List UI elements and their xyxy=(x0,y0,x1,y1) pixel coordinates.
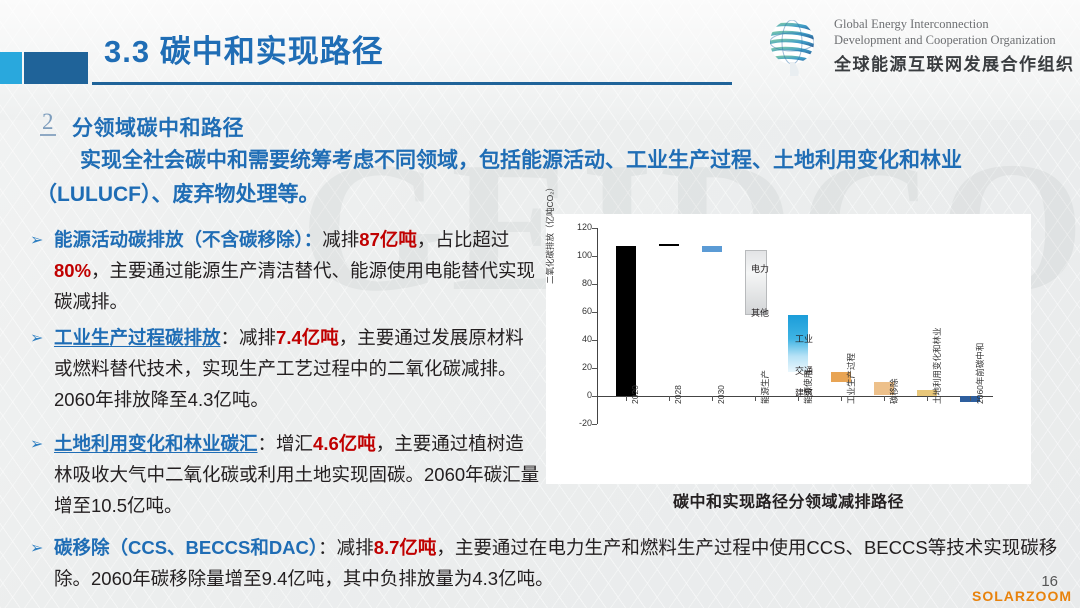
bullet-carbon-removal: ➢ 碳移除（CCS、BECCS和DAC）：减排8.7亿吨，主要通过在电力生产和燃… xyxy=(30,532,1060,594)
chart-y-tick-label: 80 xyxy=(562,278,592,288)
chart-y-tick-label: 120 xyxy=(562,222,592,232)
header-accent-square-dark xyxy=(24,52,88,84)
chart-segment-label: 其他 xyxy=(751,306,769,319)
bullet-lead: 土地利用变化和林业碳汇 xyxy=(54,433,258,454)
bullet-text-pre: 减排 xyxy=(239,327,276,348)
chart-x-tick-label: 2020 xyxy=(630,385,640,404)
bullet-arrow-icon: ➢ xyxy=(30,533,43,564)
chart-y-tick-label: 0 xyxy=(562,390,592,400)
bullet-highlight-1: 7.4亿吨 xyxy=(276,327,339,348)
chart-segment-label: 工业 xyxy=(795,332,813,345)
chart-x-tick-mark xyxy=(798,396,799,401)
bullet-colon: ： xyxy=(304,229,323,250)
source-watermark: SOLARZOOM xyxy=(972,588,1072,604)
globe-grid-icon xyxy=(764,16,824,76)
chart-caption: 碳中和实现路径分领域减排路径 xyxy=(546,488,1031,512)
bullet-lead: 工业生产过程碳排放 xyxy=(54,327,221,348)
logo-chinese-name: 全球能源互联网发展合作组织 xyxy=(834,50,1075,75)
bullet-lead: 碳移除（CCS、BECCS和DAC） xyxy=(54,537,318,558)
chart-y-tick-mark xyxy=(592,424,597,425)
bullet-arrow-icon: ➢ xyxy=(30,429,43,460)
chart-y-tick-label: -20 xyxy=(562,418,592,428)
slide-canvas: GEIDCO 3.3 碳中和实现路径 xyxy=(0,0,1080,608)
chart-y-tick-mark xyxy=(592,312,597,313)
chart-bar xyxy=(702,246,722,252)
bullet-colon: ： xyxy=(258,433,277,454)
chart-x-tick-mark xyxy=(884,396,885,401)
chart-y-tick-label: 40 xyxy=(562,334,592,344)
chart-x-tick-mark xyxy=(927,396,928,401)
bullet-colon: ： xyxy=(221,327,240,348)
chart-y-tick-label: 60 xyxy=(562,306,592,316)
chart-y-tick-group: 120100806040200-20 xyxy=(554,214,592,484)
chart-x-tick-mark xyxy=(755,396,756,401)
chart-x-tick-label: 工业生产过程 xyxy=(845,353,857,404)
chart-x-tick-mark xyxy=(712,396,713,401)
bullet-arrow-icon: ➢ xyxy=(30,323,43,354)
bullet-lead: 能源活动碳排放（不含碳移除） xyxy=(54,229,304,250)
chart-y-tick-mark xyxy=(592,284,597,285)
chart-y-tick-mark xyxy=(592,396,597,397)
title-underline-rule xyxy=(92,82,732,85)
bullet-energy-activity: ➢ 能源活动碳排放（不含碳移除）：减排87亿吨，占比超过80%，主要通过能源生产… xyxy=(30,224,540,317)
chart-x-tick-label: 2060年前碳中和 xyxy=(974,343,986,404)
chart-y-tick-mark xyxy=(592,256,597,257)
bullet-text-pre: 减排 xyxy=(322,229,359,250)
section-intro-paragraph: 实现全社会碳中和需要统筹考虑不同领域，包括能源活动、工业生产过程、土地利用变化和… xyxy=(36,144,1046,212)
section-title: 分领域碳中和路径 xyxy=(72,112,244,142)
chart-bar xyxy=(659,244,679,246)
chart-y-tick-mark xyxy=(592,340,597,341)
chart-x-tick-label: 碳移除 xyxy=(888,378,900,404)
chart-x-tick-mark xyxy=(970,396,971,401)
bullet-text-pre: 增汇 xyxy=(276,433,313,454)
bullet-body: 土地利用变化和林业碳汇：增汇4.6亿吨，主要通过植树造林吸收大气中二氧化碳或利用… xyxy=(54,428,540,521)
bullet-highlight-1: 87亿吨 xyxy=(359,229,417,250)
chart-y-tick-label: 100 xyxy=(562,250,592,260)
chart-y-axis-line xyxy=(597,228,598,424)
chart-x-tick-mark xyxy=(669,396,670,401)
bullet-lulucf-sink: ➢ 土地利用变化和林业碳汇：增汇4.6亿吨，主要通过植树造林吸收大气中二氧化碳或… xyxy=(30,428,540,521)
chart-segment-label: 电力 xyxy=(751,262,769,275)
chart-x-tick-label: 2030 xyxy=(716,385,726,404)
logo-english-line-2: Development and Cooperation Organization xyxy=(834,33,1056,48)
emission-pathway-chart: 二氧化碳排放（亿吨CO₂） 120100806040200-20 2020202… xyxy=(546,214,1031,484)
bullet-body: 碳移除（CCS、BECCS和DAC）：减排8.7亿吨，主要通过在电力生产和燃料生… xyxy=(54,532,1060,594)
chart-segment-label: 交通 xyxy=(795,364,813,377)
chart-y-tick-mark xyxy=(592,228,597,229)
chart-x-tick-mark xyxy=(626,396,627,401)
bullet-colon: ： xyxy=(318,537,337,558)
section-number: 2 xyxy=(40,110,56,136)
bullet-text-tail: ，主要通过能源生产清洁替代、能源使用电能替代实现碳减排。 xyxy=(54,260,535,312)
logo-english-line-1: Global Energy Interconnection xyxy=(834,17,989,32)
bullet-highlight-2: 80% xyxy=(54,260,91,281)
bullet-body: 能源活动碳排放（不含碳移除）：减排87亿吨，占比超过80%，主要通过能源生产清洁… xyxy=(54,224,540,317)
bullet-highlight-1: 4.6亿吨 xyxy=(313,433,376,454)
chart-bar xyxy=(616,246,636,396)
bullet-body: 工业生产过程碳排放：减排7.4亿吨，主要通过发展原材料或燃料替代技术，实现生产工… xyxy=(54,322,540,415)
page-title: 3.3 碳中和实现路径 xyxy=(104,26,384,71)
chart-x-tick-label: 土地利用变化和林业 xyxy=(931,327,943,404)
chart-y-tick-label: 20 xyxy=(562,362,592,372)
bullet-text-mid: ，占比超过 xyxy=(417,229,510,250)
organization-logo: Global Energy Interconnection Developmen… xyxy=(764,14,1064,80)
chart-x-tick-label: 2028 xyxy=(673,385,683,404)
chart-x-tick-label: 能源生产 xyxy=(759,370,771,404)
bullet-text-pre: 减排 xyxy=(337,537,374,558)
bullet-industrial-process: ➢ 工业生产过程碳排放：减排7.4亿吨，主要通过发展原材料或燃料替代技术，实现生… xyxy=(30,322,540,415)
header-accent-square-light xyxy=(0,52,22,84)
bullet-arrow-icon: ➢ xyxy=(30,225,43,256)
chart-x-tick-mark xyxy=(841,396,842,401)
bullet-highlight-1: 8.7亿吨 xyxy=(374,537,437,558)
chart-y-tick-mark xyxy=(592,368,597,369)
